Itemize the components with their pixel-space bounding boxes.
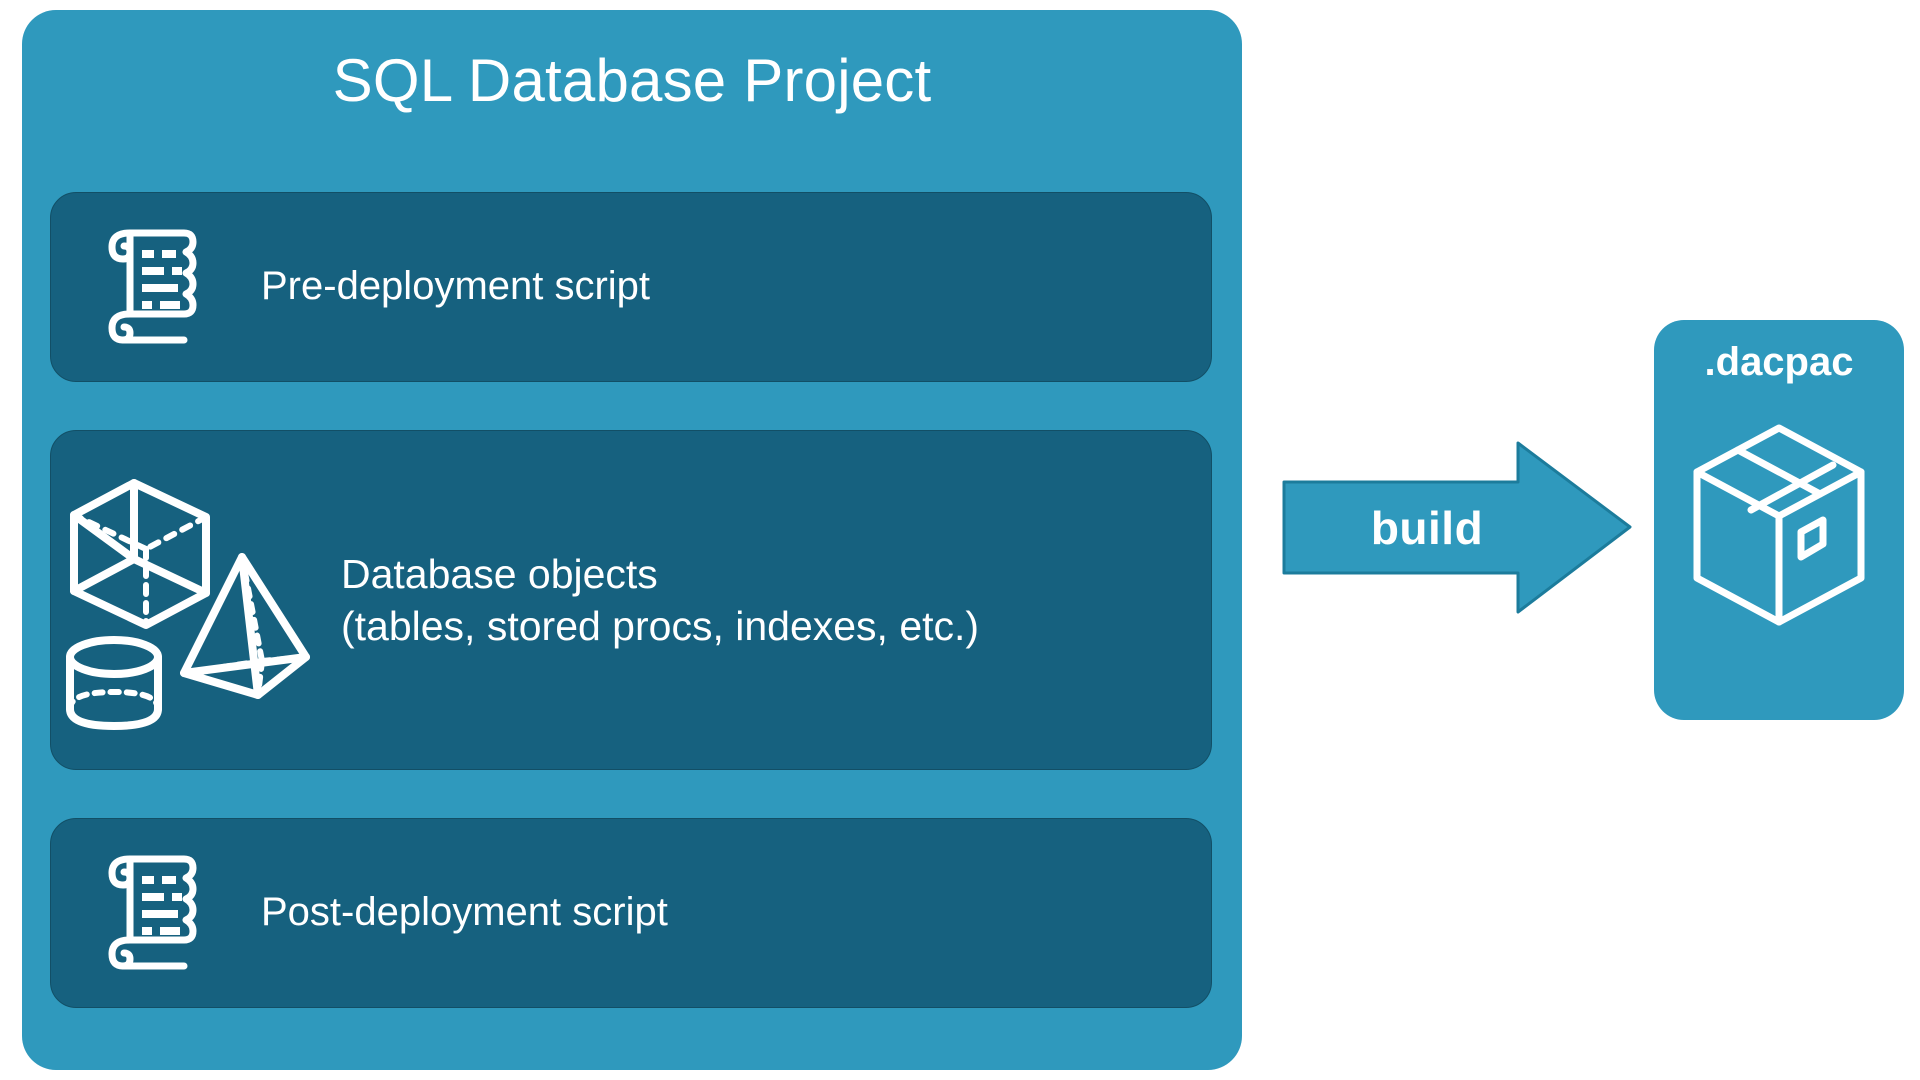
card-pre-deployment-label: Pre-deployment script xyxy=(261,261,650,312)
card-post-deployment-label: Post-deployment script xyxy=(261,887,668,938)
sql-database-project-panel: SQL Database Project xyxy=(22,10,1242,1070)
build-arrow xyxy=(1282,440,1632,615)
page-title: SQL Database Project xyxy=(22,48,1242,114)
card-post-deployment-script[interactable]: Post-deployment script xyxy=(50,818,1212,1008)
scroll-icon xyxy=(51,838,261,988)
scroll-icon xyxy=(51,212,261,362)
3d-shapes-icon xyxy=(51,455,341,745)
card-pre-deployment-script[interactable]: Pre-deployment script xyxy=(50,192,1212,382)
dacpac-title: .dacpac xyxy=(1654,340,1904,385)
package-box-icon xyxy=(1689,420,1869,630)
card-database-objects[interactable]: Database objects (tables, stored procs, … xyxy=(50,430,1212,770)
dacpac-output-panel: .dacpac xyxy=(1654,320,1904,720)
card-database-objects-label: Database objects (tables, stored procs, … xyxy=(341,548,979,653)
right-arrow-icon xyxy=(1284,443,1630,612)
